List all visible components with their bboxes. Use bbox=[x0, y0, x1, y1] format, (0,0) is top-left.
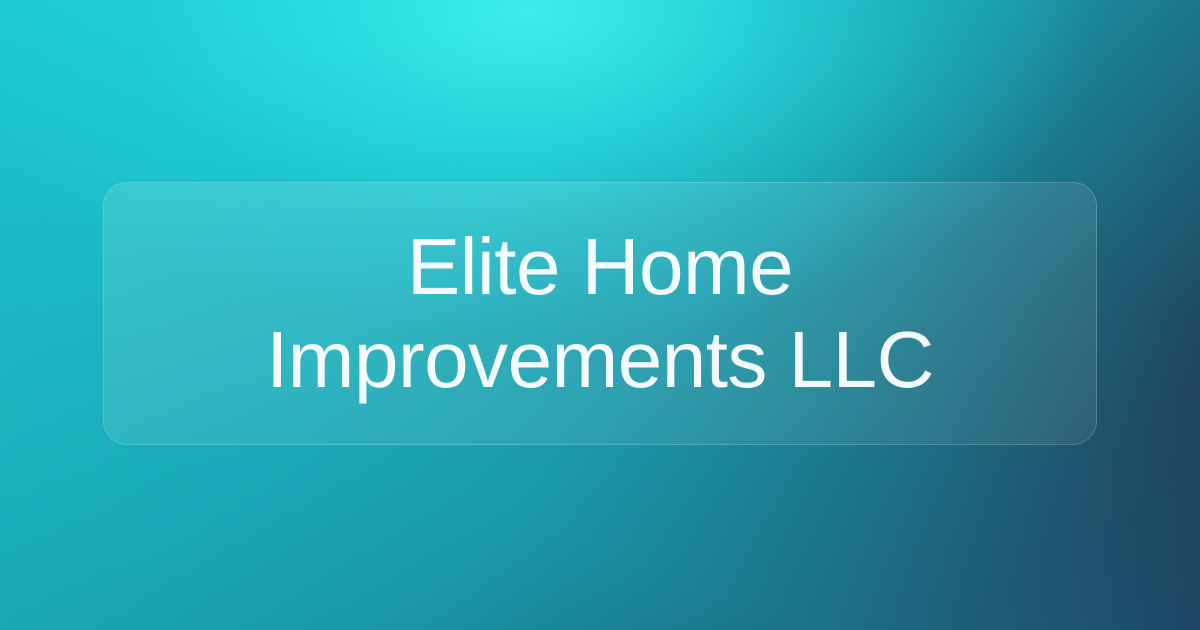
glass-panel: Elite Home Improvements LLC bbox=[103, 182, 1097, 445]
page-title: Elite Home Improvements LLC bbox=[104, 221, 1096, 407]
social-preview-card: Elite Home Improvements LLC bbox=[0, 0, 1200, 630]
